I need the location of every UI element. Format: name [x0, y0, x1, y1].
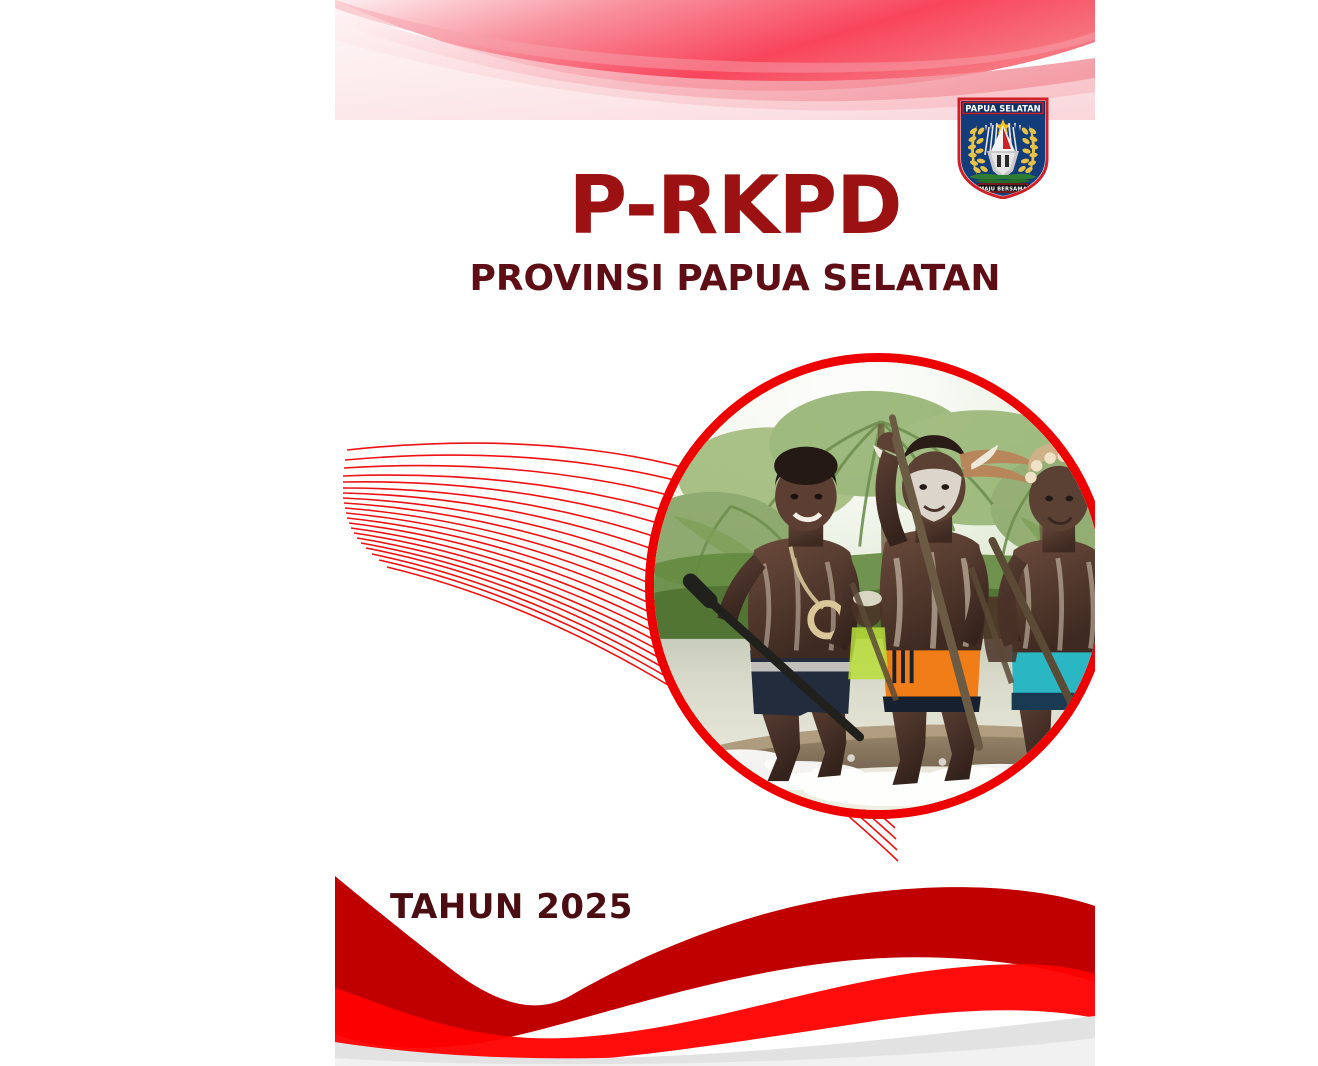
emblem-banner-text: PAPUA SELATAN [965, 104, 1040, 114]
coat-of-arms: PAPUA SELATAN [955, 97, 1051, 199]
papua-selatan-shield-icon: PAPUA SELATAN [955, 97, 1051, 199]
cover-photo [645, 353, 1095, 819]
page-subtitle: PROVINSI PAPUA SELATAN [415, 258, 1055, 299]
year-label: TAHUN 2025 [390, 887, 633, 927]
cover-page: PAPUA SELATAN [335, 0, 1095, 1066]
canoe-race-illustration [654, 362, 1095, 810]
document-cover: PAPUA SELATAN [0, 0, 1318, 1066]
